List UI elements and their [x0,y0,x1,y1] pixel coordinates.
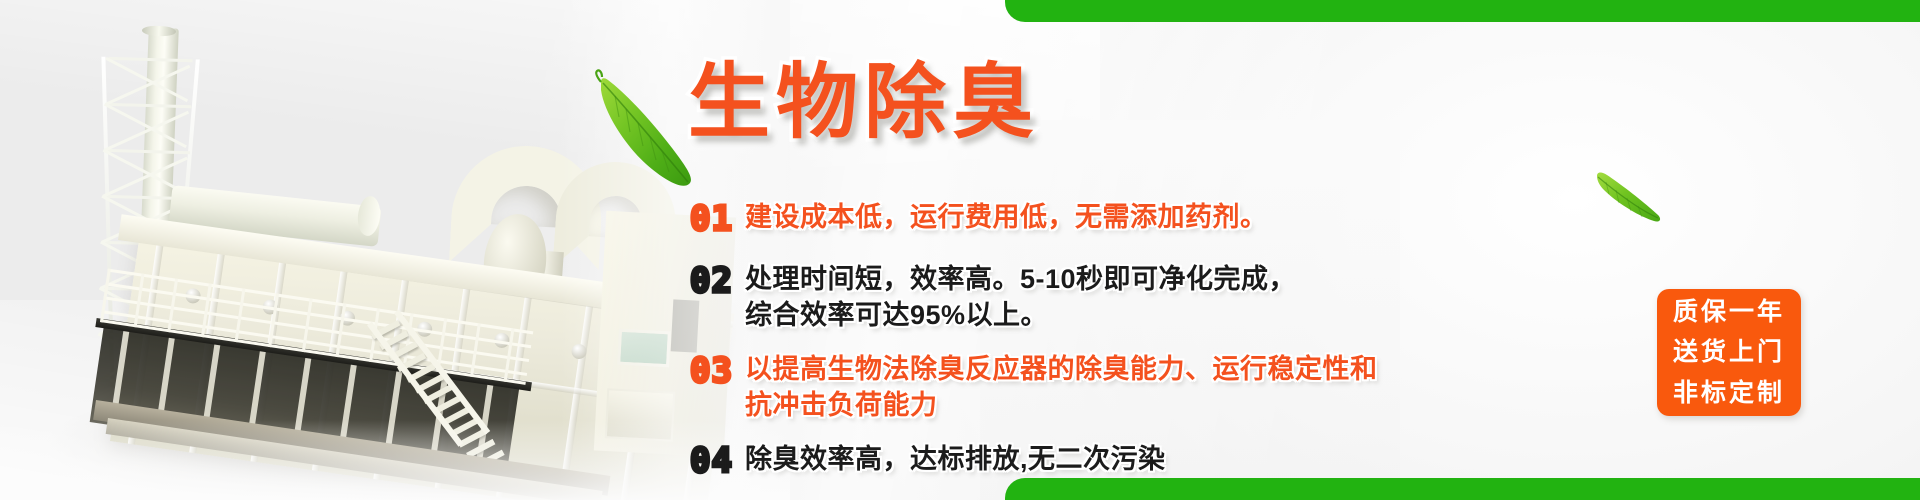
feature-item-03: 03 以提高生物法除臭反应器的除臭能力、运行稳定性和 抗冲击负荷能力 [690,352,1377,423]
service-guarantee-badge: 质保一年 送货上门 非标定制 [1657,289,1801,416]
feature-number: 04 [690,442,733,480]
badge-line-warranty: 质保一年 [1673,292,1785,333]
green-bar-top [1005,0,1920,22]
feature-item-02: 02 处理时间短，效率高。5-10秒即可净化完成， 综合效率可达95%以上。 [690,262,1296,333]
promo-banner: 生物除臭 01 建设成本低，运行费用低，无需添加药剂。 02 处理时间短，效率高… [0,0,1920,500]
feature-line: 抗冲击负荷能力 [745,388,1378,424]
banner-title: 生物除臭 [688,62,1040,144]
feature-line: 处理时间短，效率高。5-10秒即可净化完成， [745,264,1296,294]
feature-line: 除臭效率高，达标排放,无二次污染 [745,444,1166,474]
chimney-cap [142,25,176,36]
feature-line: 综合效率可达95%以上。 [745,298,1296,334]
feature-number: 03 [690,352,733,390]
feature-text: 建设成本低，运行费用低，无需添加药剂。 [745,200,1268,236]
feature-number: 01 [690,200,733,238]
badge-line-delivery: 送货上门 [1673,332,1785,373]
feature-text: 处理时间短，效率高。5-10秒即可净化完成， 综合效率可达95%以上。 [745,262,1296,333]
feature-number: 02 [690,262,733,300]
feature-line: 以提高生物法除臭反应器的除臭能力、运行稳定性和 [745,354,1378,384]
feature-text: 除臭效率高，达标排放,无二次污染 [745,442,1166,478]
photo-edge-fade [0,420,790,500]
feature-item-04: 04 除臭效率高，达标排放,无二次污染 [690,442,1165,480]
feature-line: 建设成本低，运行费用低，无需添加药剂。 [745,202,1268,232]
feature-item-01: 01 建设成本低，运行费用低，无需添加药剂。 [690,200,1267,238]
green-bar-bottom [1005,478,1920,500]
badge-line-custom: 非标定制 [1673,373,1785,414]
leaf-icon-small [1592,160,1666,226]
feature-text: 以提高生物法除臭反应器的除臭能力、运行稳定性和 抗冲击负荷能力 [745,352,1378,423]
